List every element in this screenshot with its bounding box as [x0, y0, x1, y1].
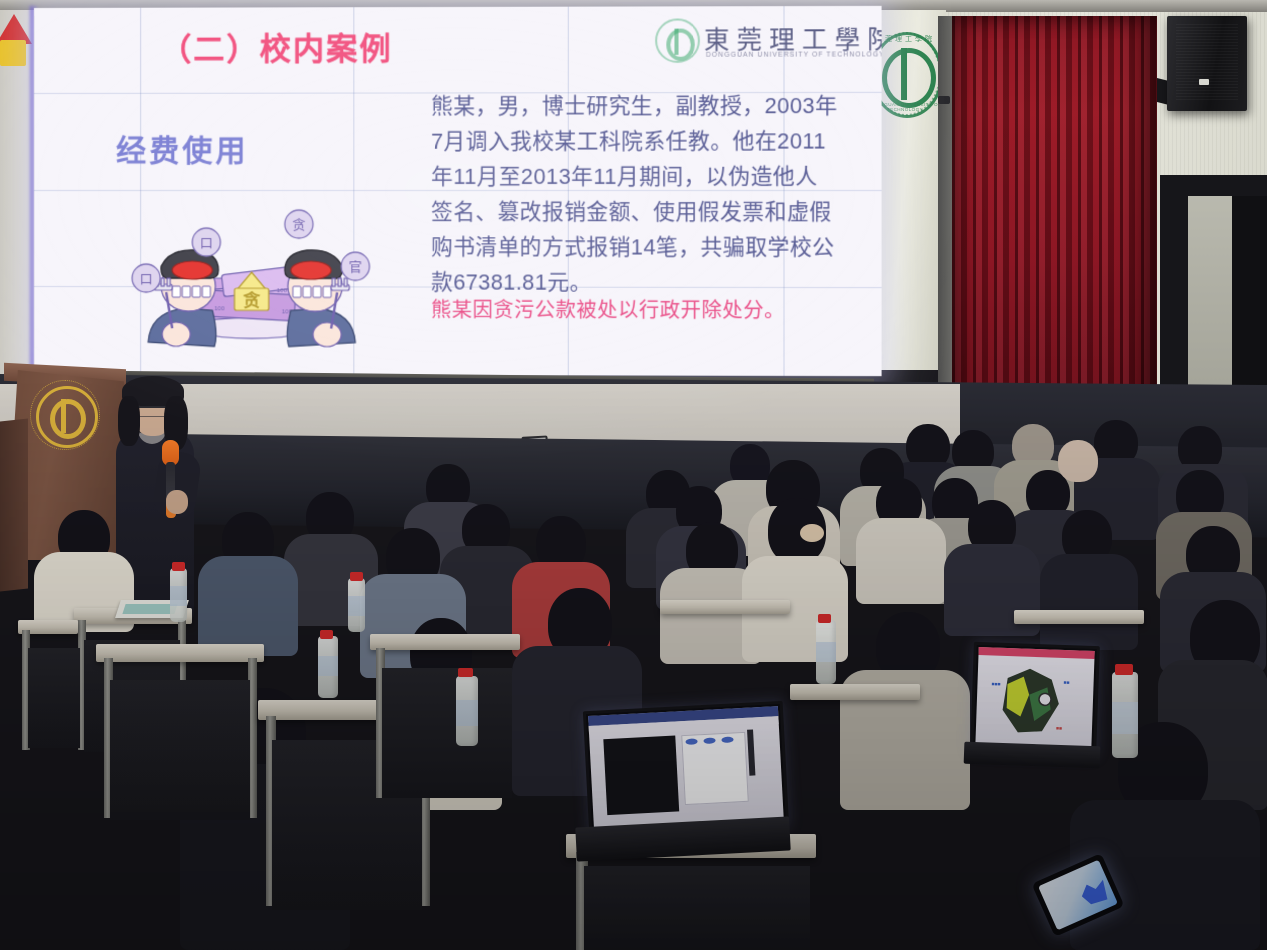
laptop-right-side[interactable]: ■■■ ■■ ■■: [970, 642, 1100, 756]
podium-university-emblem-icon: [36, 386, 98, 448]
map-diagram: ■■■ ■■ ■■: [975, 655, 1092, 749]
presenter-hand: [166, 490, 188, 514]
laptop-screen-content: [588, 706, 784, 832]
phone-screen-graphic: [1078, 878, 1111, 909]
slide-subtitle: 经费使用: [116, 126, 249, 170]
scrollbar[interactable]: [747, 729, 755, 775]
slide-university-logo: 東莞理工學院 DONGGUAN UNIVERSITY OF TECHNOLOGY: [655, 16, 879, 65]
svg-text:100: 100: [214, 306, 225, 312]
bottle-cap: [350, 572, 363, 581]
podium-side-panel: [0, 419, 28, 592]
curtain-rod-bracket: [938, 96, 950, 104]
bottle-label: [170, 586, 187, 606]
audience-torso: [856, 518, 946, 604]
corner-decoration: [0, 14, 30, 76]
bottle-label: [1112, 702, 1138, 734]
bottle-cap: [818, 614, 831, 623]
presentation-slide: （二）校内案例 经费使用 東莞理工學院 DONGGUAN UNIVERSITY …: [34, 6, 882, 376]
bottle-label: [456, 700, 478, 726]
slide-body-text: 熊某，男，博士研究生，副教授，2003年 7月调入我校某工科院系任教。他在201…: [431, 89, 868, 301]
slide-conclusion-note: 熊某因贪污公款被处以行政开除处分。: [431, 294, 785, 324]
yellow-block-decor: [0, 40, 26, 66]
slide-title: （二）校内案例: [160, 23, 392, 69]
slide-body-line: 购书清单的方式报销14笔，共骗取学校公: [431, 230, 868, 266]
bottle-label: [318, 656, 338, 676]
bottle-label: [348, 596, 365, 616]
bottle-cap: [172, 562, 185, 571]
slide-body-line: 7月调入我校某工科院系任教。他在2011: [431, 124, 868, 160]
led-video-wall[interactable]: （二）校内案例 经费使用 東莞理工學院 DONGGUAN UNIVERSITY …: [34, 6, 882, 376]
desk-surface: [660, 600, 790, 614]
cartoon-svg: 100100 100100 贪: [126, 200, 377, 361]
corruption-cartoon-illustration: 100100 100100 贪: [126, 200, 377, 361]
svg-text:贪: 贪: [242, 290, 261, 311]
svg-text:■■■: ■■■: [991, 681, 1000, 687]
svg-text:口: 口: [140, 272, 153, 287]
seal-inner-ring: [882, 48, 936, 108]
university-mark-icon: [655, 18, 700, 62]
desk-surface: [790, 684, 920, 700]
laptop-front-row[interactable]: [583, 701, 789, 837]
laptop-screen-content: ■■■ ■■ ■■: [975, 647, 1094, 751]
desk-surface: [96, 644, 264, 662]
svg-text:■■: ■■: [1056, 726, 1062, 732]
lecture-hall-photo: 東莞理工學院 DONGGUAN UNIVERSITY OF TECHNOLOGY…: [0, 0, 1267, 950]
document-thumbnail: [603, 736, 679, 816]
laptop-keyboard[interactable]: [964, 742, 1101, 769]
desk-surface: [1014, 610, 1144, 624]
speaker-badge: [1199, 79, 1209, 85]
svg-text:贪: 贪: [292, 218, 305, 233]
slide-body-line: 熊某，男，博士研究生，副教授，2003年: [431, 89, 868, 125]
slide-body-line: 年11月至2013年11月期间，以伪造他人: [431, 160, 868, 195]
desk-front-panel: [28, 648, 80, 748]
desk-front-panel: [110, 680, 250, 820]
bottle-cap: [458, 668, 473, 677]
svg-text:100: 100: [277, 288, 288, 294]
audience-head: [1058, 440, 1098, 482]
desk-front-panel: [584, 866, 810, 950]
audience-torso: [1040, 554, 1138, 650]
bottle-cap: [320, 630, 333, 639]
bottle-cap: [1115, 664, 1133, 675]
hair-bow: [800, 524, 824, 542]
desk-front-panel: [382, 668, 512, 798]
desk-surface: [370, 634, 520, 650]
ceiling-speaker-icon: [1167, 16, 1247, 111]
seal-vertical-stroke: [901, 48, 907, 100]
presenter-hair-left: [118, 396, 140, 446]
svg-text:官: 官: [349, 259, 362, 275]
bottle-label: [816, 642, 836, 662]
slide-body-line: 签名、篡改报销金额、使用假发票和虚假: [431, 195, 868, 230]
slide-logo-english: DONGGUAN UNIVERSITY OF TECHNOLOGY: [706, 51, 882, 58]
audience-torso: [198, 556, 298, 656]
svg-text:口: 口: [200, 236, 213, 251]
svg-text:■■: ■■: [1063, 680, 1069, 686]
